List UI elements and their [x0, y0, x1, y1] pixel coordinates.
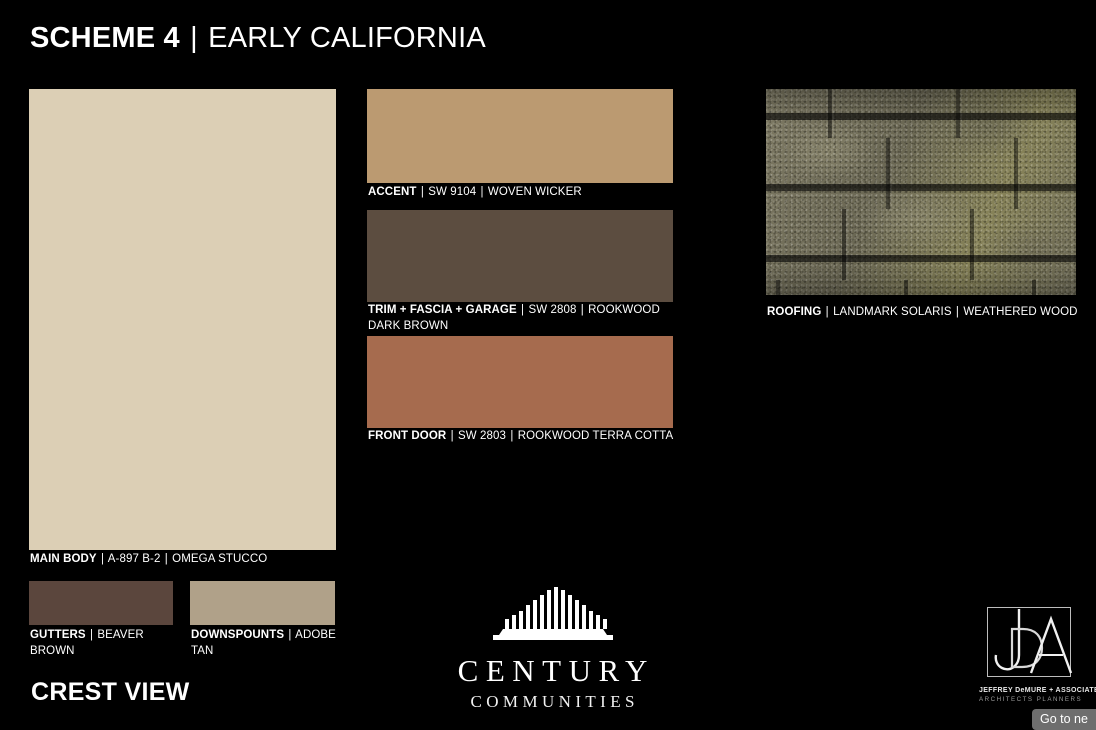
- trim-label-sep-1: |: [520, 304, 525, 316]
- main-body-label-sep-2: |: [164, 553, 169, 565]
- accent-label-sep-2: |: [480, 186, 485, 198]
- gutters-color-fill: [29, 581, 173, 625]
- main-body-color-fill: [29, 89, 336, 550]
- architect-logo: JEFFREY DeMURE + ASSOCIATES ARCHITECTS P…: [979, 607, 1079, 709]
- page-title-separator: |: [188, 22, 200, 54]
- accent-label-sep-1: |: [420, 186, 425, 198]
- front-door-label-name: FRONT DOOR: [368, 430, 446, 442]
- accent-label-color-name: WOVEN WICKER: [488, 186, 582, 198]
- gutters-label: GUTTERS | BEAVER BROWN: [30, 628, 180, 659]
- trim-fascia-garage-label: TRIM + FASCIA + GARAGE | SW 2808 | ROOKW…: [368, 303, 680, 334]
- main-body-label: MAIN BODY | A-897 B-2 | OMEGA STUCCO: [30, 552, 360, 568]
- color-scheme-board: SCHEME 4 | EARLY CALIFORNIA MAIN BODY | …: [0, 0, 1096, 730]
- accent-label: ACCENT | SW 9104 | WOVEN WICKER: [368, 185, 698, 201]
- front-door-label-sep-2: |: [509, 430, 514, 442]
- trim-label-name: TRIM + FASCIA + GARAGE: [368, 304, 517, 316]
- roofing-label-color-name: WEATHERED WOOD: [963, 306, 1077, 318]
- columns-building-icon: [489, 583, 617, 645]
- shingle-shading: [766, 89, 1076, 295]
- trim-label-code: SW 2808: [528, 304, 576, 316]
- main-body-label-sep-1: |: [100, 553, 105, 565]
- front-door-label: FRONT DOOR | SW 2803 | ROOKWOOD TERRA CO…: [368, 429, 698, 445]
- downspouts-label-name: DOWNSPOUNTS: [191, 629, 284, 641]
- front-door-swatch: [367, 336, 673, 428]
- gutters-label-name: GUTTERS: [30, 629, 86, 641]
- trim-label-sep-2: |: [580, 304, 585, 316]
- roofing-label-sep-2: |: [955, 306, 960, 318]
- downspouts-label-sep-1: |: [287, 629, 292, 641]
- main-body-label-color-name: OMEGA STUCCO: [172, 553, 267, 565]
- roofing-shingle-photo: [766, 89, 1076, 295]
- roofing-label: ROOFING | LANDMARK SOLARIS | WEATHERED W…: [767, 305, 1096, 321]
- gutters-label-sep-1: |: [89, 629, 94, 641]
- front-door-color-fill: [367, 336, 673, 428]
- builder-logo-name: CENTURY: [450, 653, 655, 689]
- main-body-swatch: [29, 89, 336, 550]
- main-body-label-code: A-897 B-2: [108, 553, 161, 565]
- page-title-scheme-number: 4: [164, 22, 180, 54]
- gutters-swatch: [29, 581, 173, 625]
- accent-swatch: [367, 89, 673, 183]
- front-door-label-code: SW 2803: [458, 430, 506, 442]
- trim-fascia-garage-color-fill: [367, 210, 673, 302]
- downspouts-color-fill: [190, 581, 335, 625]
- page-title: SCHEME 4 | EARLY CALIFORNIA: [30, 22, 486, 55]
- roofing-label-name: ROOFING: [767, 306, 821, 318]
- page-title-scheme-word: SCHEME: [30, 22, 155, 54]
- accent-label-name: ACCENT: [368, 186, 417, 198]
- builder-logo-subtitle: COMMUNITIES: [466, 692, 639, 712]
- go-to-next-tooltip[interactable]: Go to ne: [1032, 709, 1096, 730]
- downspouts-label: DOWNSPOUNTS | ADOBE TAN: [191, 628, 341, 659]
- trim-fascia-garage-swatch: [367, 210, 673, 302]
- roofing-label-code: LANDMARK SOLARIS: [833, 306, 952, 318]
- accent-color-fill: [367, 89, 673, 183]
- jda-monogram-icon: [979, 603, 1079, 681]
- main-body-label-name: MAIN BODY: [30, 553, 97, 565]
- page-title-scheme-name: EARLY CALIFORNIA: [208, 22, 486, 54]
- architect-discipline: ARCHITECTS PLANNERS: [979, 696, 1079, 703]
- accent-label-code: SW 9104: [428, 186, 476, 198]
- roofing-label-sep-1: |: [825, 306, 830, 318]
- community-name: CREST VIEW: [31, 678, 190, 707]
- front-door-label-color-name: ROOKWOOD TERRA COTTA: [518, 430, 674, 442]
- downspouts-swatch: [190, 581, 335, 625]
- architect-firm-name: JEFFREY DeMURE + ASSOCIATES: [979, 687, 1079, 694]
- front-door-label-sep-1: |: [450, 430, 455, 442]
- builder-logo: CENTURY COMMUNITIES: [425, 515, 680, 730]
